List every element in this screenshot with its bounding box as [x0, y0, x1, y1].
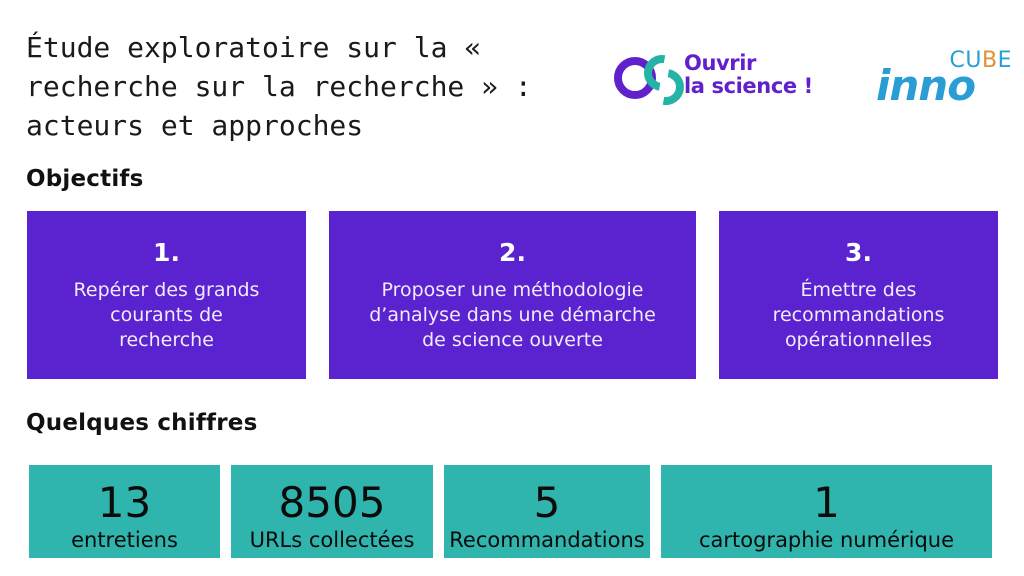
objective-number-1: 1. [153, 238, 180, 268]
stat-value-entretiens: 13 [98, 480, 151, 526]
stat-card-cartographie: 1 cartographie numérique [661, 465, 992, 558]
cube-inno-logo: CUBE inno [876, 48, 1014, 110]
objective-text-2: Proposer une méthodologie d’analyse dans… [369, 278, 656, 353]
objective-text-3: Émettre des recommandations opérationnel… [773, 278, 945, 353]
stat-label-urls: URLs collectées [250, 526, 415, 554]
cube-letter-e: E [998, 48, 1012, 73]
page-title: Étude exploratoire sur la « recherche su… [26, 28, 606, 145]
stat-card-urls: 8505 URLs collectées [231, 465, 433, 558]
stat-label-recommandations: Recommandations [449, 526, 644, 554]
ouvrir-la-science-logo: Ouvrir la science ! [614, 52, 813, 98]
ouvrir-la-science-wordmark: Ouvrir la science ! [684, 52, 813, 98]
stat-value-recommandations: 5 [534, 480, 561, 526]
objective-card-1: 1. Repérer des grands courants de recher… [27, 211, 306, 379]
ouvrir-la-science-line1: Ouvrir [684, 52, 813, 75]
objectives-row: 1. Repérer des grands courants de recher… [27, 211, 998, 379]
stat-value-cartographie: 1 [813, 480, 840, 526]
stat-value-urls: 8505 [279, 480, 386, 526]
stats-row: 13 entretiens 8505 URLs collectées 5 Rec… [29, 465, 997, 558]
cube-letter-b: B [982, 48, 998, 73]
stat-card-entretiens: 13 entretiens [29, 465, 220, 558]
stat-label-cartographie: cartographie numérique [699, 526, 954, 554]
stat-label-entretiens: entretiens [71, 526, 178, 554]
section-heading-objectifs: Objectifs [26, 166, 144, 192]
ouvrir-la-science-line2: la science ! [684, 75, 813, 98]
os-logo-mark-icon [614, 54, 676, 96]
objective-card-2: 2. Proposer une méthodologie d’analyse d… [329, 211, 696, 379]
objective-number-3: 3. [845, 238, 872, 268]
objective-text-1: Repérer des grands courants de recherche [74, 278, 260, 353]
logo-block: Ouvrir la science ! CUBE inno [614, 48, 1014, 114]
section-heading-quelques-chiffres: Quelques chiffres [26, 410, 257, 436]
stat-card-recommandations: 5 Recommandations [444, 465, 650, 558]
objective-card-3: 3. Émettre des recommandations opération… [719, 211, 998, 379]
inno-wordmark: inno [876, 64, 975, 108]
objective-number-2: 2. [499, 238, 526, 268]
